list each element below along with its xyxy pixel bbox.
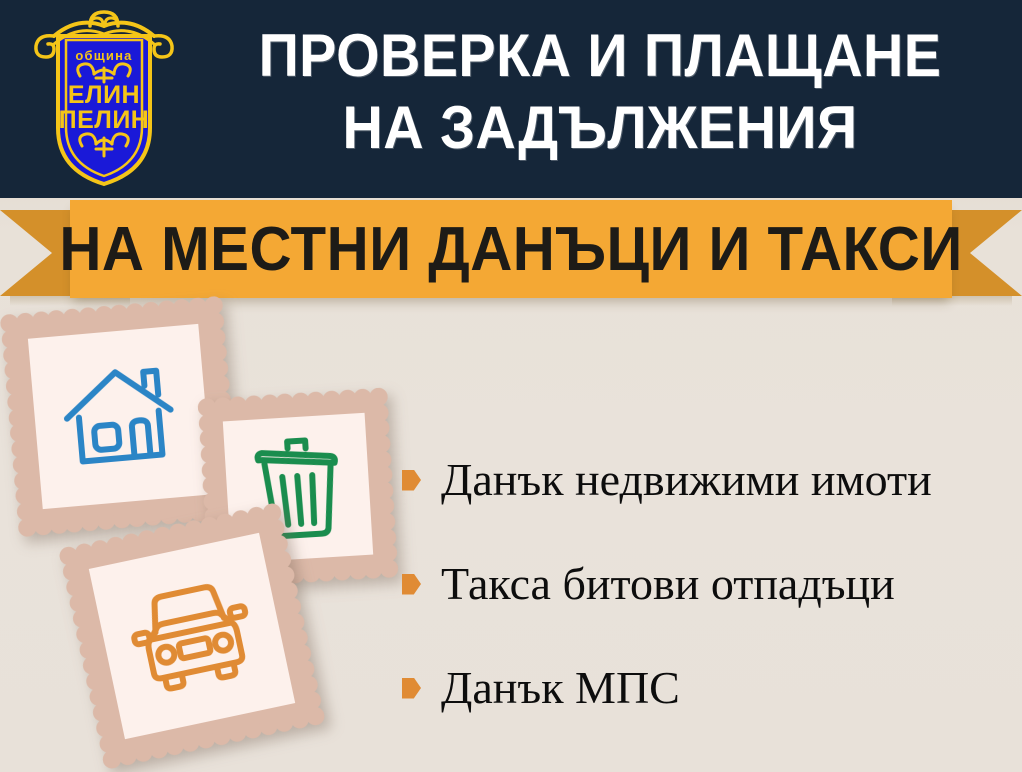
page-title: ПРОВЕРКА И ПЛАЩАНЕ НА ЗАДЪЛЖЕНИЯ (190, 20, 1010, 164)
arrow-bullet-icon (402, 470, 421, 491)
car-front-icon (119, 571, 264, 701)
list-item-label: Данък недвижими имоти (441, 456, 932, 504)
title-line-1: ПРОВЕРКА И ПЛАЩАНЕ (219, 20, 982, 92)
stamp-card-house (9, 305, 231, 527)
stamp-paper (28, 324, 213, 509)
list-item[interactable]: Такса битови отпадъци (402, 532, 1022, 636)
house-icon (56, 356, 185, 476)
list-item-label: Данък МПС (441, 664, 680, 712)
stamp-paper (89, 533, 295, 739)
arrow-bullet-icon (402, 678, 421, 699)
svg-text:ЕЛИН: ЕЛИН (68, 81, 140, 109)
ribbon-label: НА МЕСТНИ ДАНЪЦИ И ТАКСИ (96, 200, 925, 298)
svg-text:ПЕЛИН: ПЕЛИН (59, 106, 150, 134)
subtitle-ribbon: НА МЕСТНИ ДАНЪЦИ И ТАКСИ (0, 196, 1022, 308)
emblem-coat-of-arms: община ЕЛИН ПЕЛИН (28, 8, 180, 188)
list-item[interactable]: Данък недвижими имоти (402, 428, 1022, 532)
title-line-2: НА ЗАДЪЛЖЕНИЯ (219, 92, 982, 164)
arrow-bullet-icon (402, 574, 421, 595)
header-banner: община ЕЛИН ПЕЛИН ПРОВЕРКА И ПЛАЩ (0, 0, 1022, 198)
list-item[interactable]: Данък МПС (402, 636, 1022, 740)
services-list: Данък недвижими имоти Такса битови отпад… (402, 428, 1022, 740)
ribbon-band: НА МЕСТНИ ДАНЪЦИ И ТАКСИ (70, 200, 952, 298)
stamp-card-car (69, 513, 316, 760)
list-item-label: Такса битови отпадъци (441, 560, 895, 608)
svg-text:община: община (75, 48, 132, 63)
